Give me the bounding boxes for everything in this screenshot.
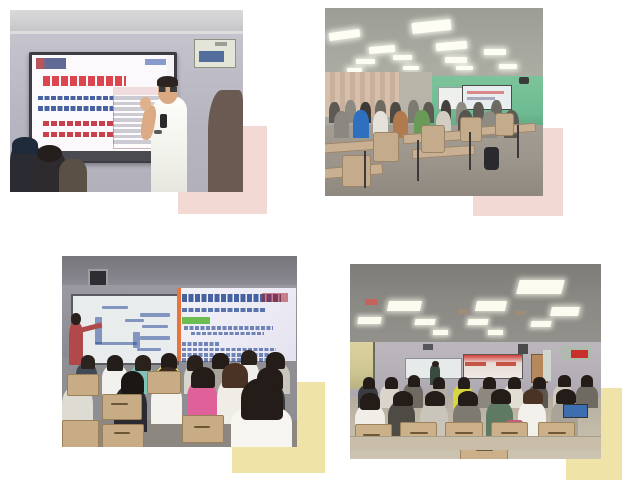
whiteboard-writing [95,342,137,345]
student-head [556,389,576,405]
student [353,110,368,138]
whiteboard-writing [137,348,161,351]
chair [421,125,445,153]
student-head [222,363,248,388]
lecturer-body [151,96,187,192]
door-frame [543,350,551,381]
desk-leg [364,151,366,189]
whiteboard-writing [125,319,144,322]
speaker-icon [518,344,528,354]
chair-handle [194,426,210,428]
ceiling-lamp [550,307,579,316]
student-head [385,377,398,389]
whiteboard-writing [102,306,128,310]
student-head [241,378,283,420]
desk-leg [469,132,471,170]
desk-leg [417,140,419,181]
screen-banner-left-text [465,362,485,366]
university-crest-icon [36,58,66,69]
chair [495,113,514,136]
chair [342,155,370,187]
foreground-person [208,90,243,192]
ceiling-lamp [474,301,506,311]
instructor-head [432,361,439,368]
ceiling-lamp [356,59,376,64]
chair-handle [455,432,473,434]
speaker-icon [519,77,529,85]
screen-heading-text [467,91,504,95]
chair [373,132,399,162]
slide-subheading-text [182,308,267,312]
student-head [458,377,471,389]
university-crest-icon [262,293,288,302]
front-desk [350,436,601,451]
lecturer-hair [157,76,178,87]
student-head [491,389,511,405]
ceiling-fan-icon [458,309,468,314]
student-head [458,391,478,407]
photo-classroom-green-wall [325,8,543,196]
student-head [523,389,543,405]
screen-body-text [467,97,495,100]
chair-handle [548,432,566,434]
glasses-icon [159,87,178,91]
student-head [363,377,376,389]
screen-banner-right-text [496,362,516,366]
backpack [484,147,499,170]
student [334,111,349,137]
laptop-icon [563,404,588,418]
ceiling-lamp [456,66,473,70]
chair-handle [410,432,428,434]
desk-leg [517,125,519,159]
whiteboard-writing [95,317,102,344]
chair [182,415,224,444]
ceiling-lamp [403,66,418,70]
audience-head [12,137,38,153]
slide-section-badge [182,317,210,323]
chair [102,424,144,447]
student-head [360,393,380,411]
ceiling-fan-icon [365,299,378,305]
lecturer-hand [140,97,151,110]
student-head [191,367,215,388]
ceiling-lamp [445,57,467,63]
photo-lecture-hall-projection [62,256,297,447]
student-head [241,350,257,365]
slide-title-text [43,76,127,87]
slide-table-header [113,87,164,94]
microphone-icon [160,114,167,129]
slide-canvas [0,0,638,504]
panel-indicator [199,51,225,62]
instructor-head [71,313,80,324]
ceiling-lamp [357,317,381,324]
ceiling-lamp [530,321,551,327]
ceiling-lamp [433,330,448,334]
ceiling-lamp [415,319,436,325]
chair [147,371,182,394]
chair-handle [111,403,127,405]
slide-body-line-2 [191,332,264,336]
student-head [107,355,123,370]
photo-lecturer-at-smartboard [10,10,243,192]
student-head [433,377,446,389]
sponsor-logo-icon [145,59,166,65]
chair [460,117,482,142]
table-row [113,96,164,99]
ceiling-lamp [516,280,565,294]
student-head [408,375,421,387]
chair [102,394,142,421]
slide-body-line-1 [184,326,273,330]
photo-wide-lecture-room [350,264,601,459]
projection-screen [463,354,523,379]
ceiling-lamp [393,55,413,60]
ceiling-fan-icon [516,311,526,316]
student-head [135,355,151,370]
wall-red-sign [571,350,589,358]
student-head [393,391,413,407]
chair-handle [114,432,130,434]
slide-body-line-4 [182,348,276,352]
panel-label [215,42,227,47]
chair-handle [501,432,519,434]
projector-icon [423,344,433,350]
chair [62,420,99,447]
student-head [581,375,594,387]
slide-body-line-3 [182,342,220,346]
chair [67,374,100,395]
ceiling-lamp [484,49,506,55]
student-head [81,355,95,368]
audience-member [59,159,87,192]
student-head [121,371,145,394]
student-head [558,375,571,387]
ceiling-lamp [488,330,503,334]
student-head [425,391,445,407]
ceiling-lamp [499,64,516,68]
student-head [508,377,521,389]
whiteboard-writing [140,313,171,316]
whiteboard-writing [140,336,171,339]
whiteboard-writing [133,332,140,347]
audience-head [37,145,63,162]
student-head [533,377,546,389]
whiteboard-writing [142,325,168,328]
student-head [483,377,496,389]
ceiling-lamp [467,319,488,325]
ceiling-trim [10,31,243,34]
ceiling-lamp [387,301,422,311]
